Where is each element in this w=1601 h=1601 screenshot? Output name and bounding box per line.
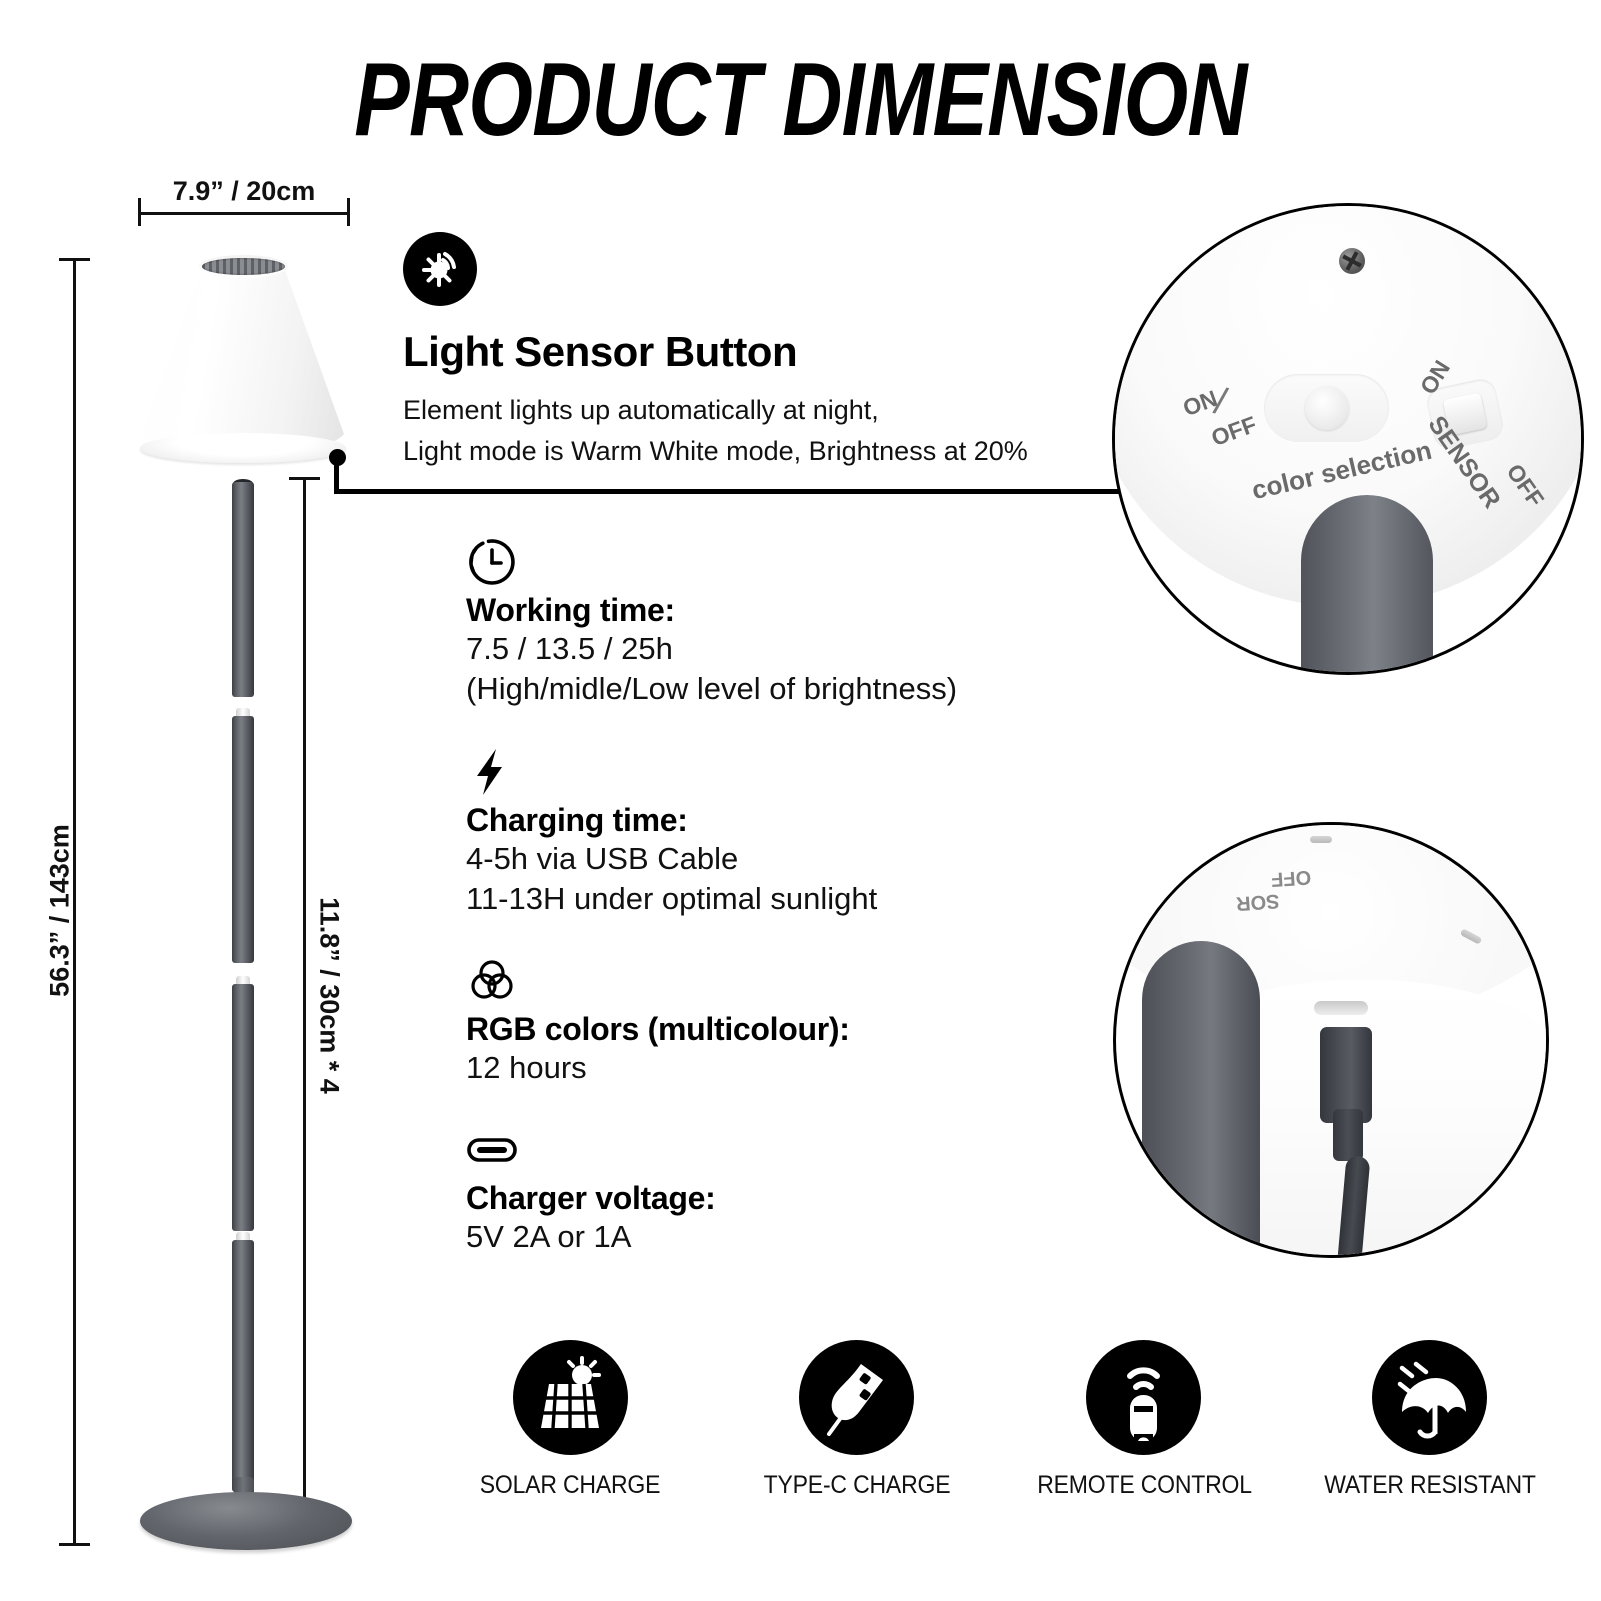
leader-line-horizontal xyxy=(334,489,1166,494)
pole-segment-1 xyxy=(232,482,254,697)
callout-title: Light Sensor Button xyxy=(403,328,1103,376)
callout-line-2: Light mode is Warm White mode, Brightnes… xyxy=(403,431,1103,472)
page-title-part2: DIMENSION xyxy=(782,42,1246,158)
feature-badge-row: SOLAR CHARGE TYPE-C CHARGE xyxy=(455,1340,1545,1500)
photo-usb-charging-port: OFF SOR xyxy=(1113,822,1549,1258)
feature-label: WATER RESISTANT xyxy=(1324,1471,1536,1500)
usb-c-port-icon xyxy=(466,1124,518,1176)
pole-segment-3 xyxy=(232,984,254,1231)
lamp-base-disc xyxy=(140,1492,352,1550)
rgb-venn-icon xyxy=(466,955,518,1007)
feature-solar-charge: SOLAR CHARGE xyxy=(455,1340,685,1500)
spec-title: Charger voltage: xyxy=(466,1180,1126,1217)
usb-c-port xyxy=(1314,1001,1368,1015)
clock-icon xyxy=(466,536,518,588)
spec-charging-time: Charging time: 4-5h via USB Cable 11-13H… xyxy=(466,746,1126,920)
color-selection-button[interactable] xyxy=(1305,386,1349,430)
spec-title: Charging time: xyxy=(466,802,1126,839)
feature-remote-control: REMOTE CONTROL xyxy=(1028,1340,1258,1500)
pole-in-photo xyxy=(1142,941,1260,1258)
pole-segment-2 xyxy=(232,716,254,963)
spec-working-time: Working time: 7.5 / 13.5 / 25h (High/mid… xyxy=(466,536,1126,710)
spec-title: RGB colors (multicolour): xyxy=(466,1011,1126,1048)
spec-line-1: 4-5h via USB Cable xyxy=(466,839,1126,879)
spec-line-1: 5V 2A or 1A xyxy=(466,1217,1126,1257)
label-off: OFF xyxy=(1270,864,1312,890)
spec-charger-voltage: Charger voltage: 5V 2A or 1A xyxy=(466,1124,1126,1257)
screw-notch-a xyxy=(1310,836,1332,843)
spec-line-1: 12 hours xyxy=(466,1048,1126,1088)
lightning-bolt-icon xyxy=(466,746,518,798)
lamp-shade-bottom-rim xyxy=(140,433,346,463)
lamp-shade xyxy=(140,255,346,455)
pole-in-photo xyxy=(1301,495,1433,675)
phillips-screw xyxy=(1339,248,1365,274)
spec-line-2: 11-13H under optimal sunlight xyxy=(466,879,1126,919)
spec-line-2: (High/midle/Low level of brightness) xyxy=(466,669,1126,709)
product-dimension-infographic: PRODUCT DIMENSION 7.9” / 20cm 56.3” / 14… xyxy=(0,0,1601,1601)
usb-plug-icon xyxy=(799,1340,914,1455)
feature-label: TYPE-C CHARGE xyxy=(751,1471,963,1500)
solar-panel-top xyxy=(202,258,285,275)
label-sor: SOR xyxy=(1236,888,1281,914)
callout-description: Element lights up automatically at night… xyxy=(403,390,1103,472)
spec-title: Working time: xyxy=(466,592,1126,629)
photo-lamp-underside-controls: ON / OFF color selection ON SENSOR OFF xyxy=(1112,203,1584,675)
feature-water-resistant: WATER RESISTANT xyxy=(1315,1340,1545,1500)
umbrella-rain-icon xyxy=(1372,1340,1487,1455)
spec-list: Working time: 7.5 / 13.5 / 25h (High/mid… xyxy=(466,536,1126,1294)
callout-line-1: Element lights up automatically at night… xyxy=(403,390,1103,431)
light-sensor-icon xyxy=(403,232,477,306)
usb-c-connector-neck xyxy=(1333,1109,1363,1161)
spec-line-1: 7.5 / 13.5 / 25h xyxy=(466,629,1126,669)
lamp-shade-body xyxy=(140,265,346,455)
feature-label: REMOTE CONTROL xyxy=(1038,1471,1250,1500)
light-sensor-callout: Light Sensor Button Element lights up au… xyxy=(403,232,1103,472)
pole-segment-4 xyxy=(232,1240,254,1492)
spec-rgb-colors: RGB colors (multicolour): 12 hours xyxy=(466,955,1126,1088)
solar-panel-icon xyxy=(513,1340,628,1455)
color-button-recess xyxy=(1264,374,1389,442)
feature-label: SOLAR CHARGE xyxy=(464,1471,676,1500)
remote-control-icon xyxy=(1086,1340,1201,1455)
feature-type-c-charge: TYPE-C CHARGE xyxy=(742,1340,972,1500)
lamp-illustration xyxy=(0,0,420,1601)
